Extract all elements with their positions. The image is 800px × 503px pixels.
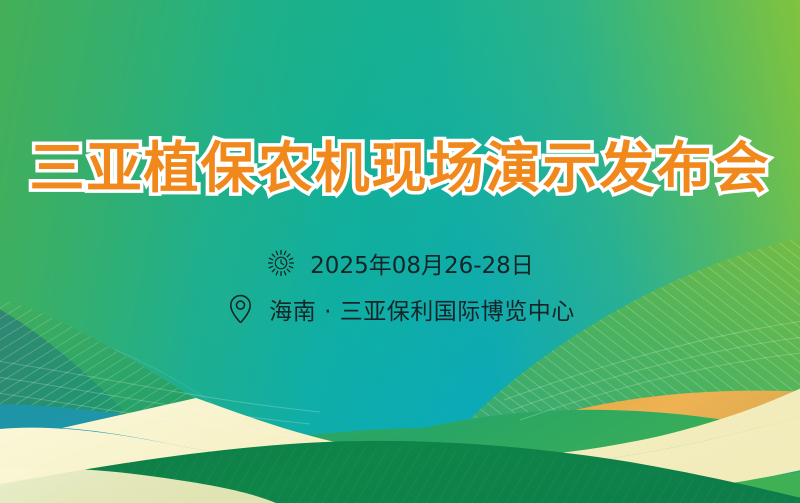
- clock-icon: [266, 248, 296, 278]
- event-date-row: 2025年08月26-28日: [266, 246, 534, 280]
- poster-title: 三亚植保农机现场演示发布会: [29, 138, 770, 200]
- poster-canvas: 三亚植保农机现场演示发布会: [0, 0, 800, 503]
- event-location-text: 海南 · 三亚保利国际博览中心: [269, 292, 574, 326]
- event-location-row: 海南 · 三亚保利国际博览中心: [225, 292, 574, 326]
- event-info-block: 2025年08月26-28日 海南 · 三亚保利国际博览中心: [0, 246, 800, 326]
- event-date-text: 2025年08月26-28日: [310, 246, 534, 280]
- title-block: 三亚植保农机现场演示发布会: [0, 138, 800, 200]
- map-pin-icon: [225, 294, 255, 324]
